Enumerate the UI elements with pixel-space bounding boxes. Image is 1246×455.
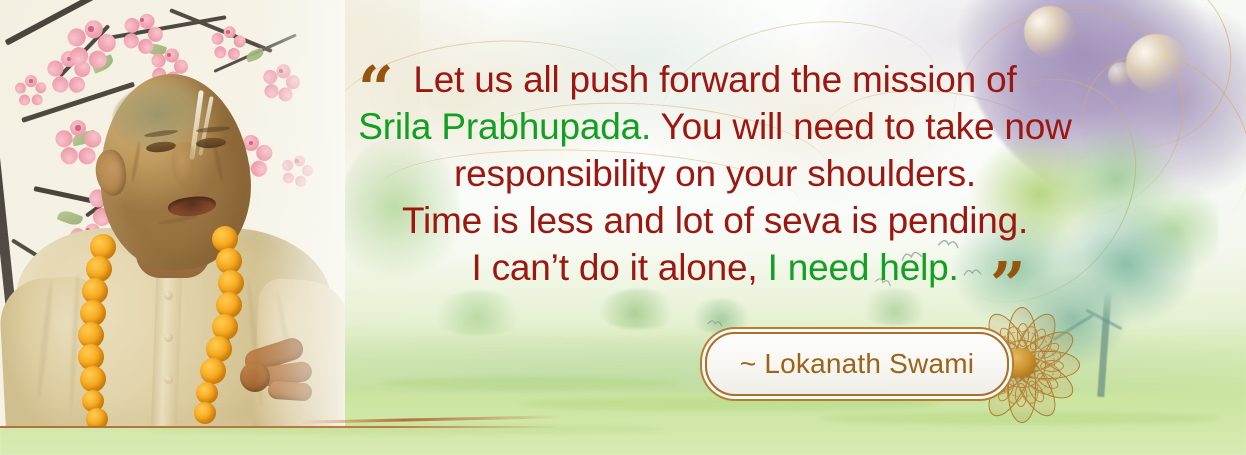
gold-glitter-cluster [1024, 6, 1076, 58]
mandala-center-bead [1006, 348, 1036, 378]
kurta-button [164, 375, 173, 384]
swami-portrait [16, 50, 332, 428]
field-streak [380, 377, 680, 389]
quote-banner: “ Let us all push forward the mission of… [0, 0, 1246, 455]
kurta-button [164, 291, 173, 300]
quote-line: Srila Prabhupada. You will need to take … [345, 103, 1085, 150]
cherry-blossom-icon [74, 12, 108, 46]
marigold-flower [86, 408, 108, 428]
gold-glitter-cluster [1108, 62, 1134, 88]
gold-glitter-cluster [1126, 34, 1188, 94]
attribution-label: ~ Lokanath Swami [740, 348, 974, 380]
cherry-blossom-icon [216, 20, 240, 44]
quote-line: Time is less and lot of seva is pending. [345, 197, 1085, 244]
quote-line: responsibility on your shoulders. [345, 150, 1085, 197]
quote-text-block: Let us all push forward the mission of S… [345, 56, 1085, 291]
quote-segment: Let us all push forward the mission of [413, 59, 1016, 100]
attribution-badge: ~ Lokanath Swami [705, 332, 1009, 396]
finger [267, 380, 312, 401]
portrait-hand [238, 334, 334, 420]
quote-line: I can’t do it alone, I need help. [345, 244, 1085, 291]
kurta-button [164, 333, 173, 342]
quote-segment-highlight: I need help. [768, 247, 959, 288]
quote-segment: You will need to take now [651, 106, 1072, 147]
marigold-flower [194, 402, 216, 424]
marigold-flower [196, 382, 218, 404]
quote-segment-highlight: Srila Prabhupada. [358, 106, 651, 147]
field-streak [520, 397, 940, 411]
quote-line: Let us all push forward the mission of [345, 56, 1085, 103]
marigold-flower [200, 358, 226, 384]
quote-segment: Time is less and lot of seva is pending. [402, 200, 1028, 241]
shrub [860, 289, 930, 325]
portrait-panel [0, 0, 345, 428]
portrait-cut-line [0, 426, 560, 428]
marigold-flower [80, 366, 106, 392]
cherry-blossom-icon [128, 6, 156, 34]
quote-segment: I can’t do it alone, [471, 247, 767, 288]
quote-segment: responsibility on your shoulders. [454, 153, 976, 194]
bird-icon [707, 318, 715, 323]
